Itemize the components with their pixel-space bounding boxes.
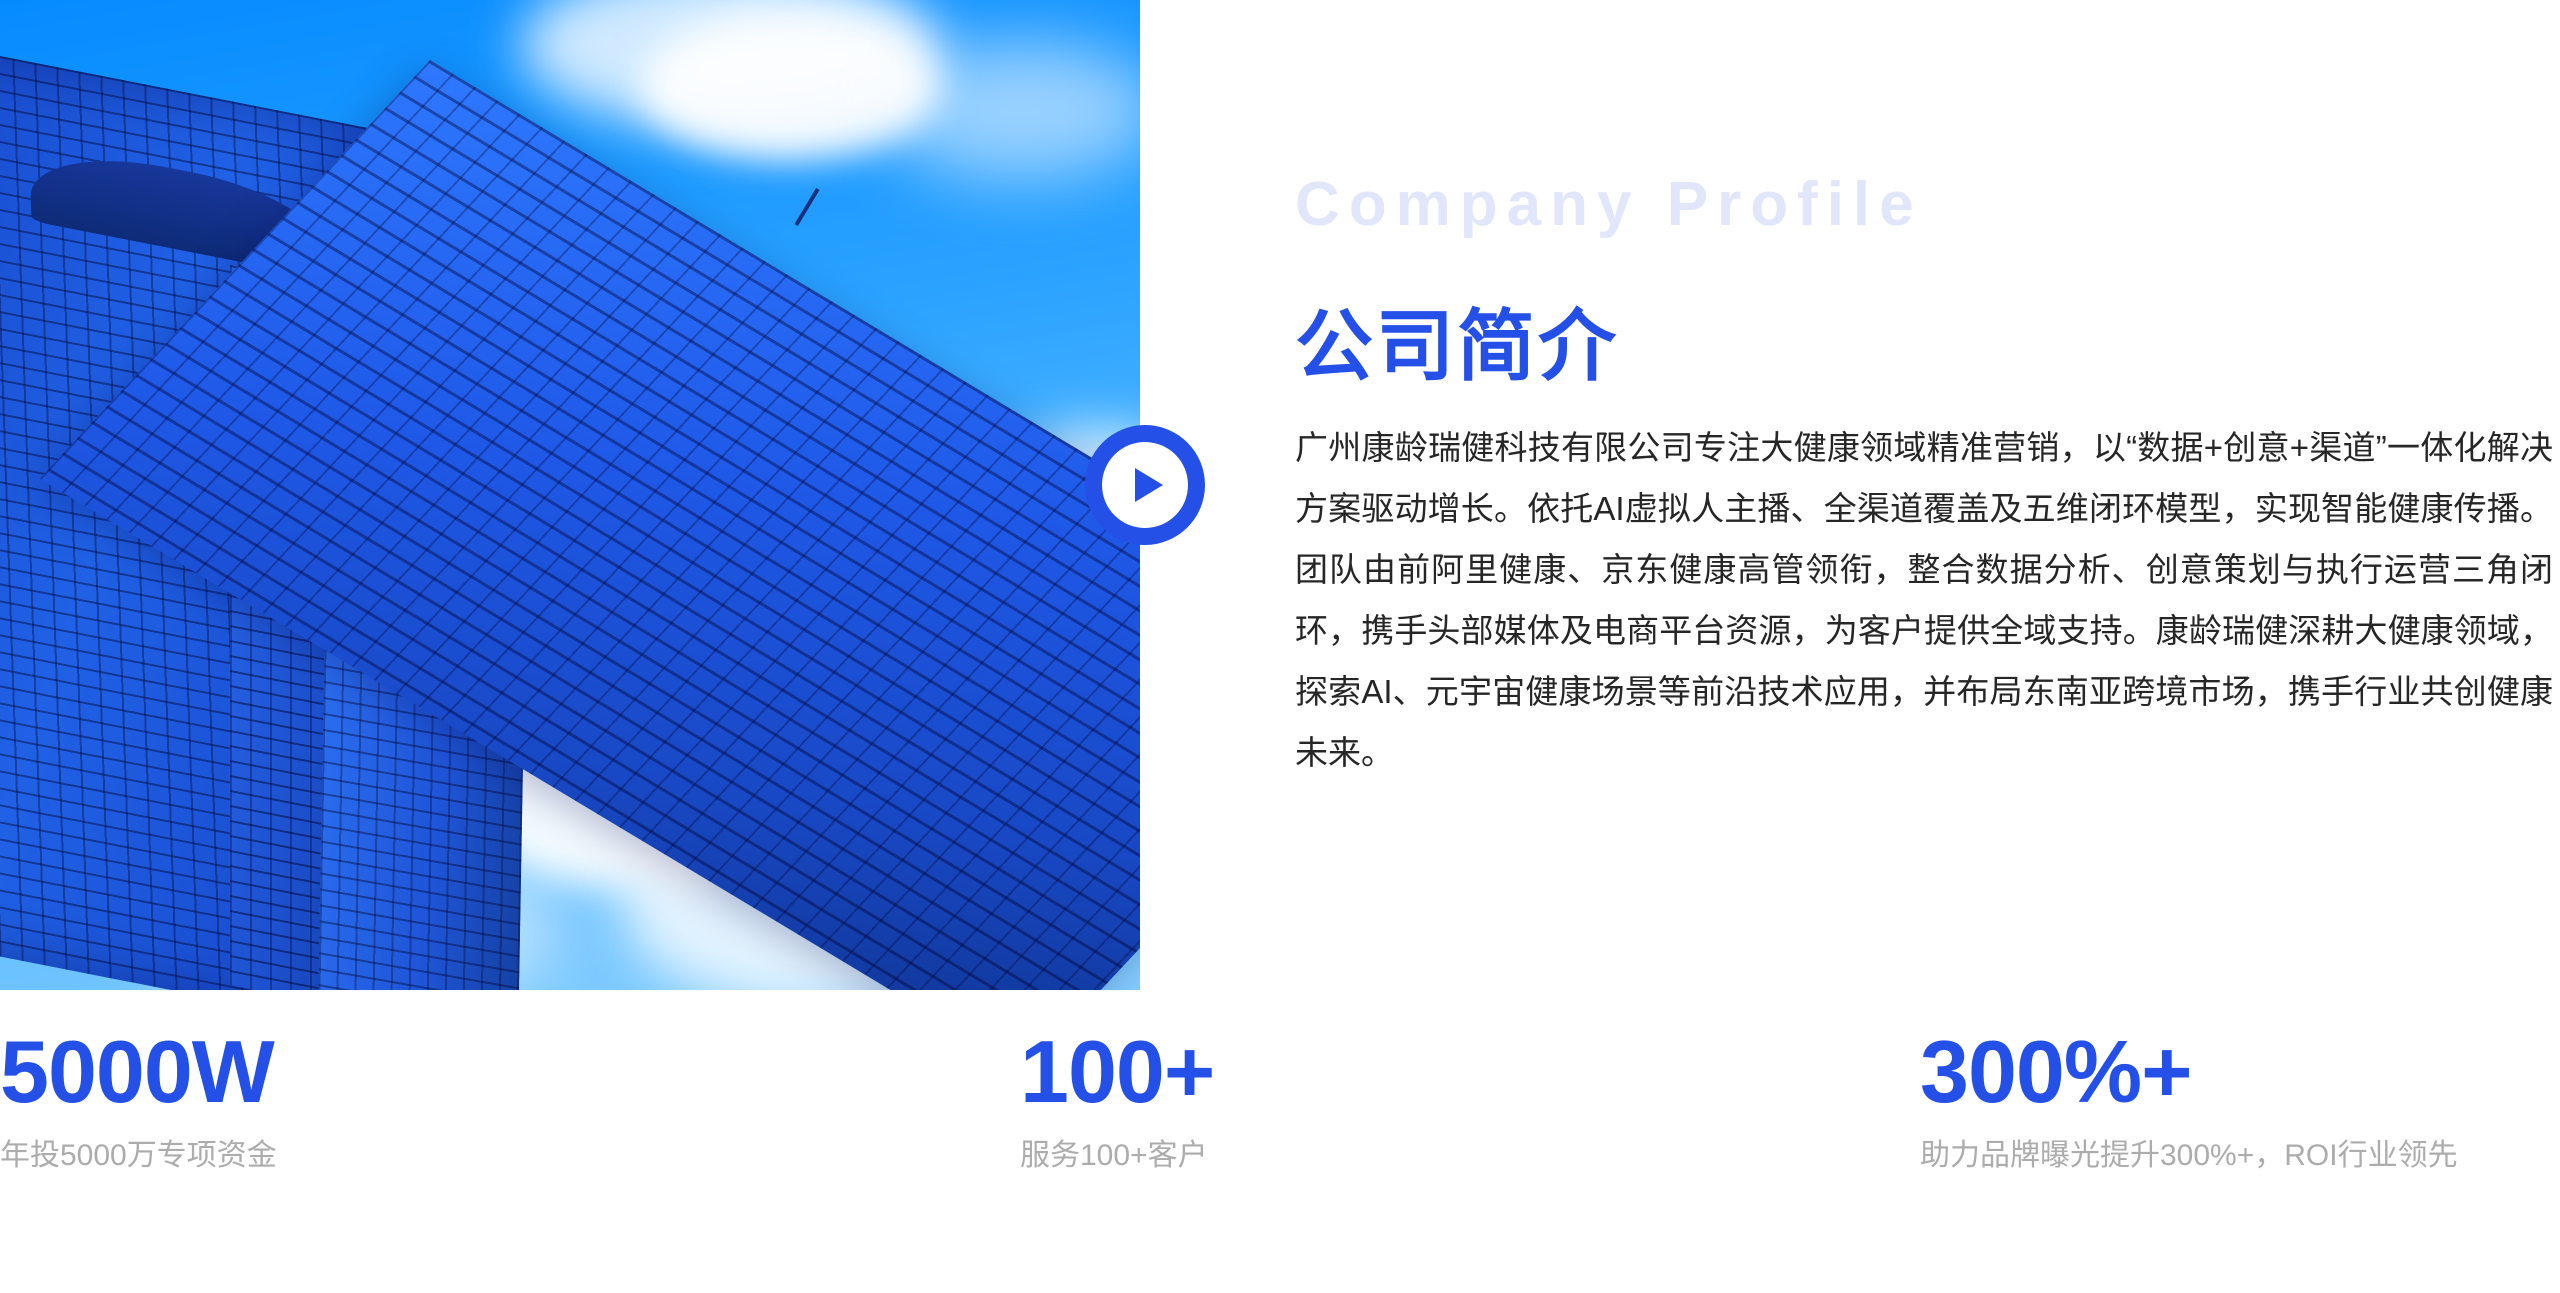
company-description: 广州康龄瑞健科技有限公司专注大健康领域精准营销，以“数据+创意+渠道”一体化解决… — [1295, 417, 2553, 783]
play-triangle-icon — [1135, 468, 1163, 502]
stat-item: 5000W 年投5000万专项资金 — [0, 1028, 277, 1174]
stat-label: 服务100+客户 — [1020, 1138, 1214, 1174]
video-play-button[interactable] — [1085, 425, 1205, 545]
stat-value: 300%+ — [1920, 1028, 2458, 1116]
stat-label: 年投5000万专项资金 — [0, 1138, 277, 1174]
page-title: 公司简介 — [1295, 304, 1619, 390]
company-profile-section: Company Profile 公司简介 广州康龄瑞健科技有限公司专注大健康领域… — [1295, 0, 2560, 990]
stat-label: 助力品牌曝光提升300%+，ROI行业领先 — [1920, 1138, 2458, 1174]
stats-row: 5000W 年投5000万专项资金 100+ 服务100+客户 300%+ 助力… — [0, 1028, 2560, 1258]
stat-item: 300%+ 助力品牌曝光提升300%+，ROI行业领先 — [1920, 1028, 2458, 1174]
stat-item: 100+ 服务100+客户 — [1020, 1028, 1214, 1174]
cloud-shape — [880, 40, 1140, 180]
antenna-mast — [794, 188, 819, 226]
hero-photo — [0, 0, 1140, 990]
play-button-inner-circle — [1102, 442, 1188, 528]
stat-value: 5000W — [0, 1028, 277, 1116]
stat-value: 100+ — [1020, 1028, 1214, 1116]
section-eyebrow: Company Profile — [1295, 174, 1923, 236]
